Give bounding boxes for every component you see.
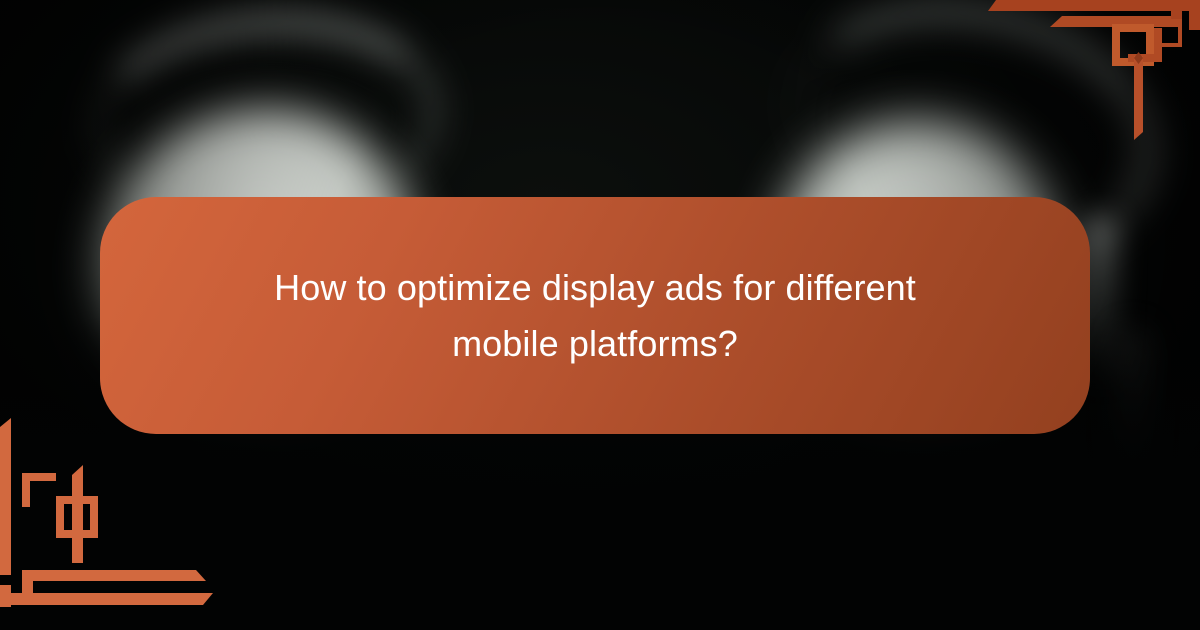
poster-canvas: How to optimize display ads for differen… xyxy=(0,0,1200,630)
headline-pill[interactable]: How to optimize display ads for differen… xyxy=(100,197,1090,434)
headline-text: How to optimize display ads for differen… xyxy=(245,260,945,372)
